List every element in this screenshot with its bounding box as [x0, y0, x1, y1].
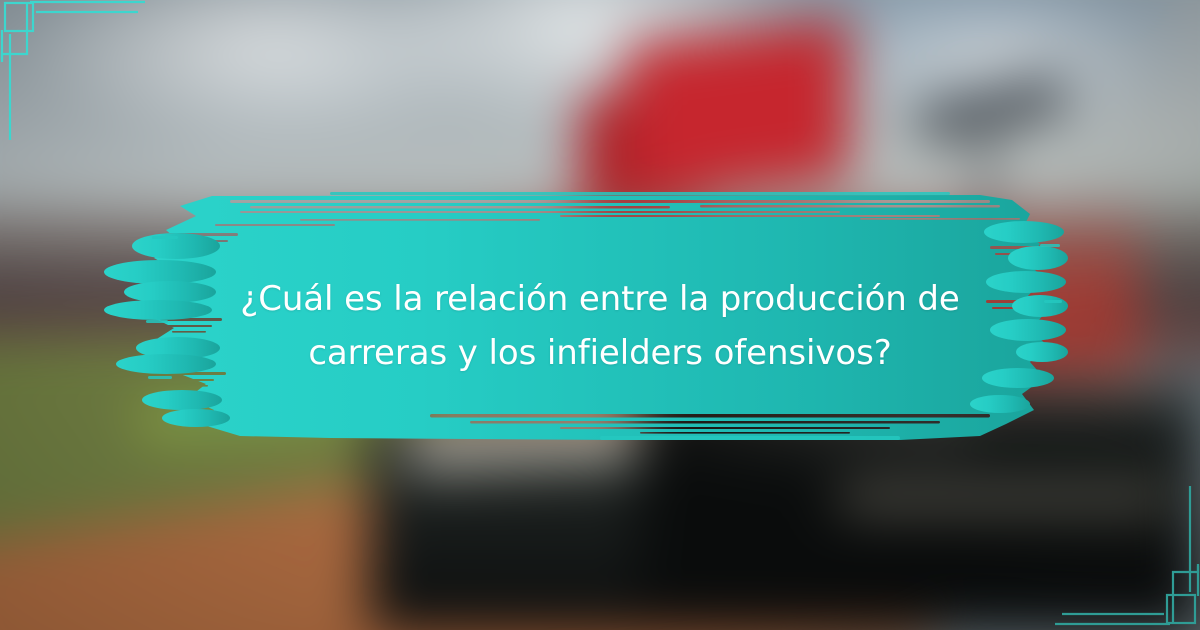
- bracket-bottom-right-icon: [1020, 476, 1200, 626]
- question-card: ¿Cuál es la relación entre la producción…: [0, 0, 1200, 630]
- page-title: ¿Cuál es la relación entre la producción…: [180, 272, 1020, 380]
- bracket-top-left: [0, 0, 180, 154]
- bracket-bottom-right: [1020, 476, 1200, 630]
- bracket-top-left-icon: [0, 0, 180, 150]
